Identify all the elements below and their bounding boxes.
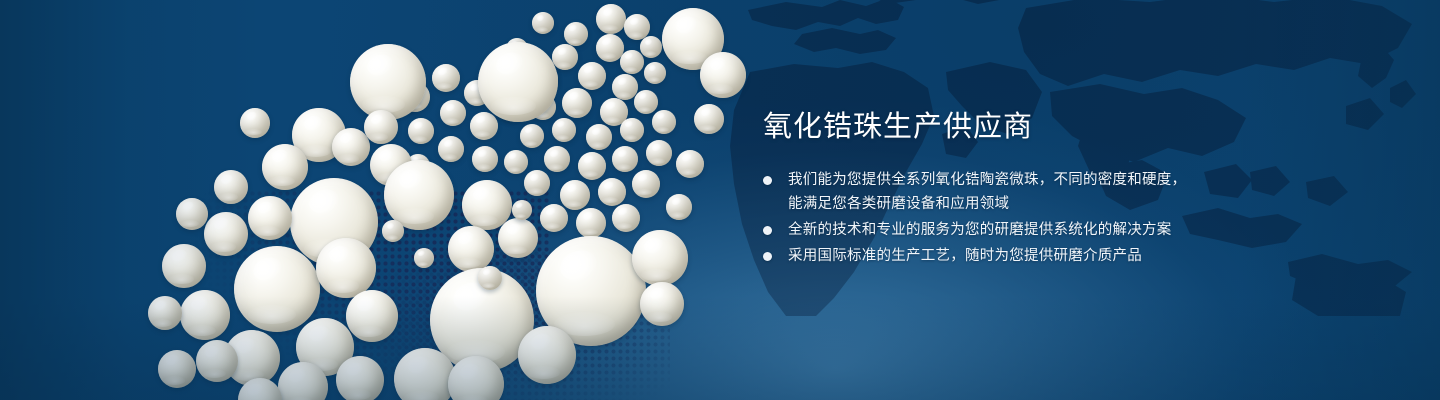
bullet-line: 能满足您各类研磨设备和应用领域 (788, 192, 1323, 216)
bullet-item: 采用国际标准的生产工艺，随时为您提供研磨介质产品 (763, 244, 1323, 268)
bullet-line: 采用国际标准的生产工艺，随时为您提供研磨介质产品 (788, 244, 1323, 268)
bullet-dot-icon (763, 252, 772, 261)
banner-headline: 氧化锆珠生产供应商 (763, 108, 1323, 146)
banner-bullet-list: 我们能为您提供全系列氧化锆陶瓷微珠，不同的密度和硬度， 能满足您各类研磨设备和应… (763, 168, 1323, 268)
bullet-line: 我们能为您提供全系列氧化锆陶瓷微珠，不同的密度和硬度， (788, 168, 1323, 192)
hero-banner: 氧化锆珠生产供应商 我们能为您提供全系列氧化锆陶瓷微珠，不同的密度和硬度， 能满… (0, 0, 1440, 400)
bullet-item: 全新的技术和专业的服务为您的研磨提供系统化的解决方案 (763, 218, 1323, 242)
bullet-dot-icon (763, 176, 772, 185)
bullet-line: 全新的技术和专业的服务为您的研磨提供系统化的解决方案 (788, 218, 1323, 242)
bullet-item: 我们能为您提供全系列氧化锆陶瓷微珠，不同的密度和硬度， 能满足您各类研磨设备和应… (763, 168, 1323, 216)
banner-copy: 氧化锆珠生产供应商 我们能为您提供全系列氧化锆陶瓷微珠，不同的密度和硬度， 能满… (763, 108, 1323, 270)
bullet-dot-icon (763, 226, 772, 235)
